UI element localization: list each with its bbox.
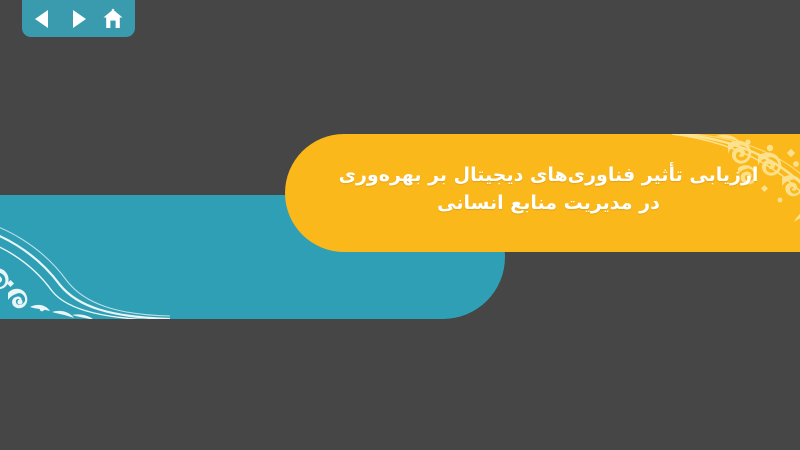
presentation-slide: ارزیابی تأثیر فناوری‌های دیجیتال بر بهره… <box>0 0 800 450</box>
forward-icon[interactable] <box>67 8 89 30</box>
orange-banner: ارزیابی تأثیر فناوری‌های دیجیتال بر بهره… <box>285 134 800 252</box>
back-icon[interactable] <box>32 8 54 30</box>
slide-title: ارزیابی تأثیر فناوری‌های دیجیتال بر بهره… <box>285 162 800 217</box>
arabesque-ornament <box>0 195 170 319</box>
navigation-bar <box>22 0 135 37</box>
title-line-2: در مدیریت منابع انسانی <box>307 190 790 218</box>
home-icon[interactable] <box>102 8 124 30</box>
title-line-1: ارزیابی تأثیر فناوری‌های دیجیتال بر بهره… <box>307 162 790 190</box>
